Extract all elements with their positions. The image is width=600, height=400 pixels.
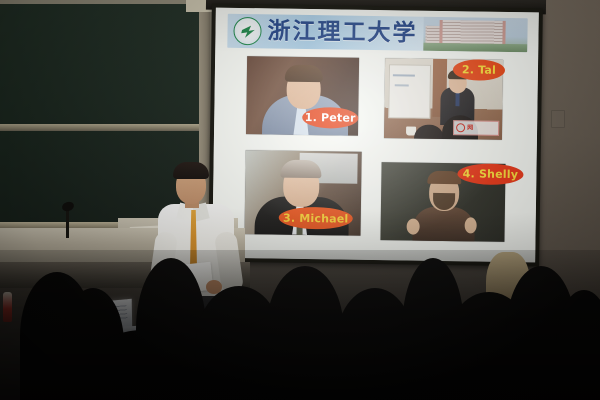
photo4-hair	[427, 171, 461, 185]
university-seal-logo	[233, 17, 261, 45]
university-name-text: 浙江理工大学	[267, 16, 417, 49]
audience-head	[88, 330, 198, 400]
slide-banner: 浙江理工大学	[227, 14, 527, 52]
microphone-stand	[66, 208, 69, 238]
projection-screen[interactable]: 浙江理工大学	[212, 8, 539, 263]
wall-socket	[551, 110, 565, 128]
photo2-watermark: 网	[453, 120, 499, 136]
building-secondary	[425, 26, 439, 44]
building-trees	[423, 43, 527, 53]
photo2-whiteboard	[388, 64, 431, 119]
watermark-circle-icon	[456, 123, 465, 132]
building-main-tower	[439, 20, 505, 45]
photo2-whiteboard-line	[393, 74, 415, 76]
label-tal: 2. Tal	[453, 59, 505, 81]
watermark-text: 网	[467, 125, 473, 131]
presentation-slide: 浙江理工大学	[212, 8, 539, 263]
audience-head	[374, 320, 478, 400]
photo2-tie	[455, 93, 459, 106]
water-bottle	[3, 292, 12, 322]
photo2-whiteboard-line	[395, 84, 409, 86]
presenter-hair	[173, 162, 209, 179]
photo3-hair	[280, 160, 321, 179]
right-wall-panel	[536, 0, 600, 300]
audience-head	[556, 290, 600, 400]
audience-head	[228, 316, 338, 400]
lecture-hall-scene: 浙江理工大学	[0, 0, 600, 400]
campus-building-photo	[423, 17, 527, 53]
chalkboard-rail-middle	[0, 124, 206, 131]
photo1-hair	[285, 65, 323, 83]
